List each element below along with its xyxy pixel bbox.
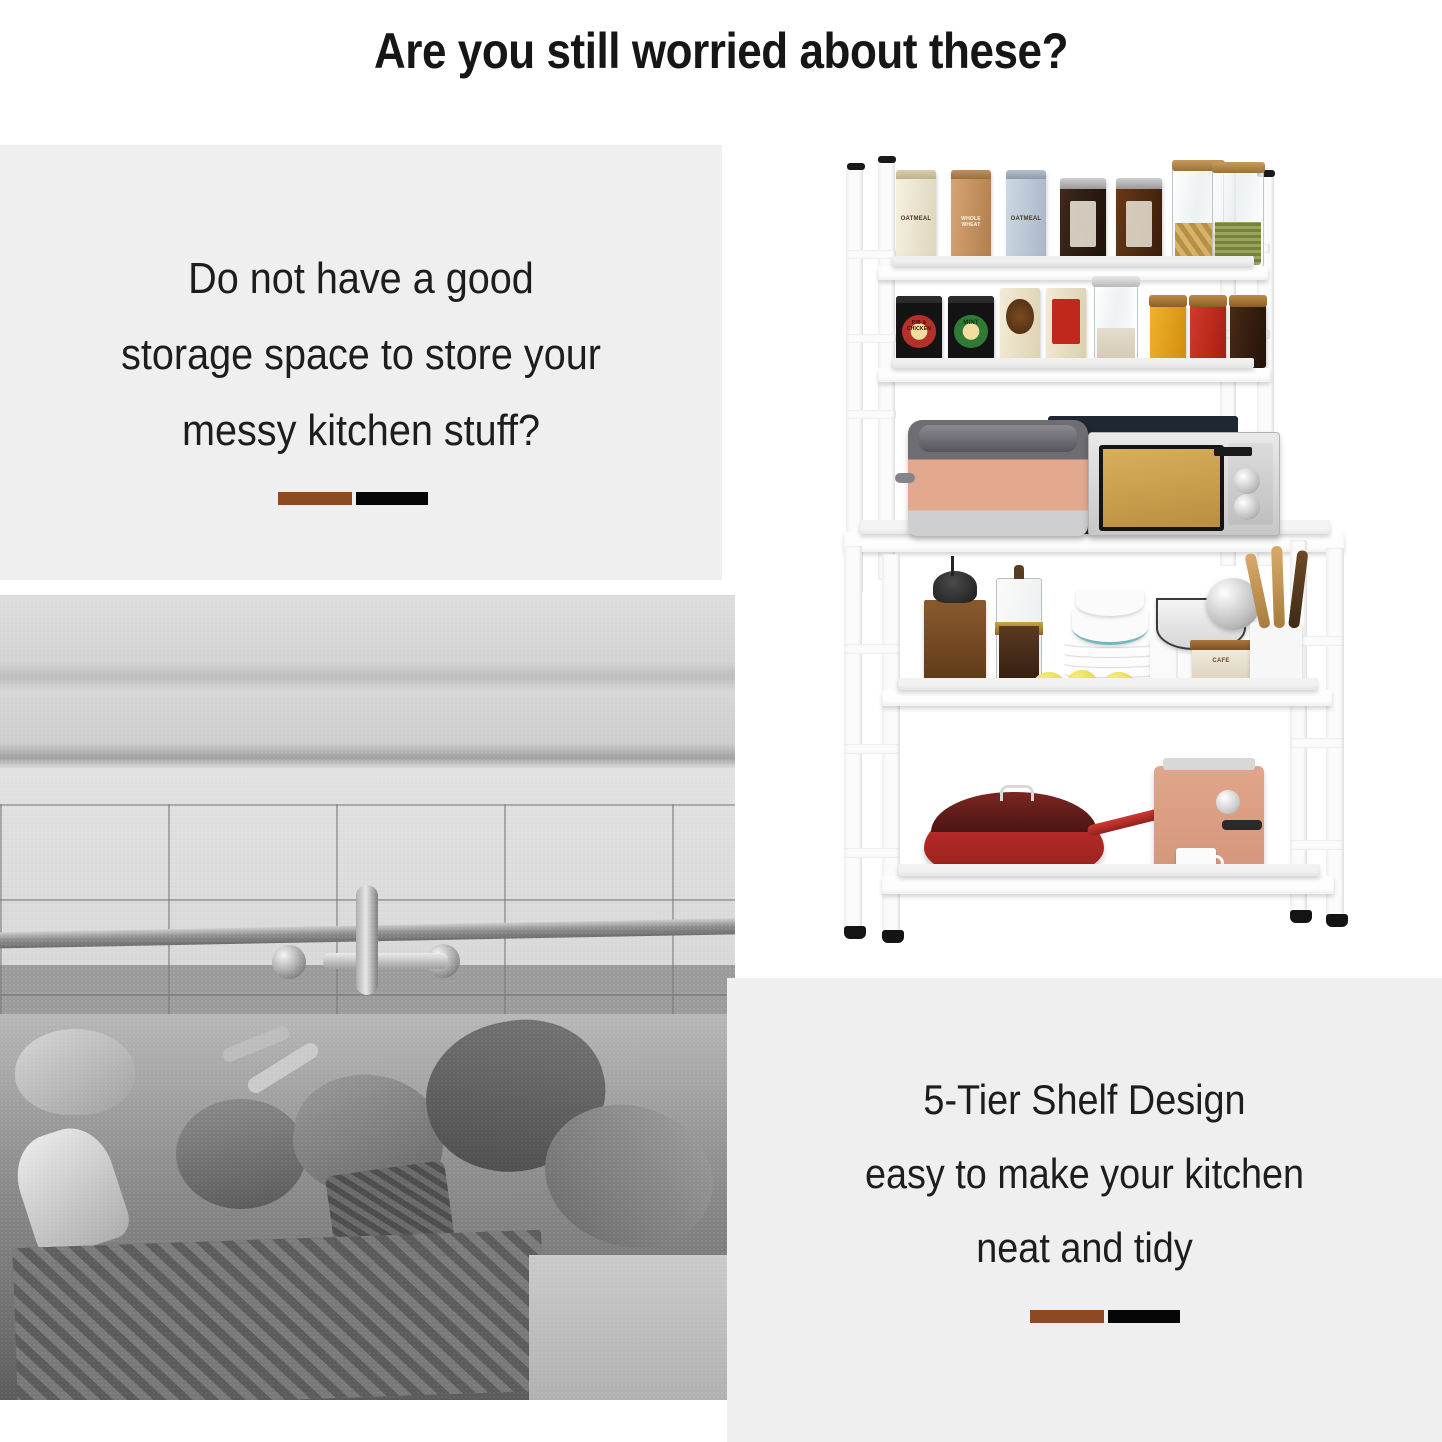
plate	[1064, 650, 1158, 657]
shelf-board-bottom-back	[898, 864, 1320, 876]
hutch-rail-left-mid	[846, 334, 896, 343]
grinder-box-label: CAFE	[1197, 658, 1246, 664]
jar-dark-preserve	[1060, 178, 1106, 266]
canister-oatmeal-blue: OATMEAL	[1006, 170, 1046, 266]
plate	[1064, 660, 1158, 667]
jar-lid	[1116, 178, 1162, 189]
right-copy-text: 5-Tier Shelf Design easy to make your ki…	[763, 1063, 1407, 1285]
bowl-white	[1076, 590, 1144, 616]
box-indian-spice	[1046, 288, 1086, 368]
portafilter-arm	[1222, 820, 1262, 830]
divider-black-segment	[1108, 1310, 1180, 1323]
base-rail-left-upper	[844, 644, 900, 654]
canister-label: WHOLE WHEAT	[954, 216, 988, 228]
foot-right-front	[1326, 914, 1348, 927]
coffee-grinder	[924, 600, 986, 684]
rice-cooker-lid	[919, 425, 1077, 453]
glass-jar-grains	[1212, 168, 1264, 268]
sauce-cap	[948, 296, 994, 303]
shelf-board-middle-back	[898, 678, 1318, 690]
foot-right-back	[1290, 910, 1312, 923]
base-rail-right-mid	[1290, 738, 1344, 748]
divider-brown-segment	[278, 492, 352, 505]
french-press	[996, 578, 1042, 692]
press-plunger-knob	[1014, 565, 1025, 579]
base-rail-right-lower	[1290, 840, 1344, 850]
spice-jar-lid	[1229, 295, 1268, 307]
espresso-gauge	[1216, 790, 1240, 814]
right-divider-rule	[1030, 1310, 1180, 1323]
shelf-board-middle	[882, 690, 1332, 706]
base-rail-left-mid	[844, 744, 900, 754]
left-copy-text: Do not have a good storage space to stor…	[36, 241, 686, 469]
left-copy-line-3: messy kitchen stuff?	[36, 393, 686, 469]
canister-label: OATMEAL	[899, 216, 933, 222]
microwave	[1088, 432, 1280, 536]
canister-label: OATMEAL	[1009, 216, 1043, 222]
left-copy-line-1: Do not have a good	[36, 241, 686, 317]
bakers-rack-product: OATMEAL WHOLE WHEAT OATMEAL RIB & CHICKE…	[820, 148, 1380, 968]
canister-oatmeal-cream: OATMEAL	[896, 170, 936, 266]
shelf-board-bottom	[882, 876, 1334, 894]
sauce-cap	[896, 296, 942, 303]
foot-left-back	[844, 926, 866, 939]
post-cap-left	[847, 163, 865, 170]
rice-cooker	[908, 420, 1088, 536]
hutch-rail-left-lower	[846, 410, 896, 419]
microwave-dial-lower	[1234, 494, 1260, 520]
left-divider-rule	[278, 492, 428, 505]
spice-jar-lid	[1189, 295, 1228, 307]
left-copy-panel: Do not have a good storage space to stor…	[0, 145, 722, 580]
box-cocoa	[1000, 288, 1040, 368]
shelf-board-tier1	[878, 266, 1268, 280]
sauce-label: RIB & CHICKEN	[900, 320, 939, 332]
foot-left-front	[882, 930, 904, 943]
jar-lid	[1060, 178, 1106, 189]
right-copy-panel: 5-Tier Shelf Design easy to make your ki…	[727, 978, 1442, 1442]
microwave-door	[1099, 445, 1225, 531]
left-copy-line-2: storage space to store your	[36, 317, 686, 393]
jar-wooden-lid	[1212, 162, 1265, 173]
shelf-board-tier1-back	[892, 256, 1254, 266]
jar-label	[1126, 201, 1152, 247]
grinder-box-top	[1190, 640, 1253, 650]
spice-box-panel	[1052, 299, 1081, 344]
base-post-right-front	[1326, 548, 1344, 916]
sauce-label: MINT	[952, 320, 991, 326]
right-copy-line-1: 5-Tier Shelf Design	[763, 1063, 1407, 1137]
base-post-left-back	[844, 546, 862, 928]
cocoa-medallion	[1006, 299, 1033, 334]
spice-jar-lid	[1149, 295, 1188, 307]
shelf-board-tier2-back	[892, 358, 1254, 368]
canister-lid	[951, 170, 991, 179]
jar-amber-preserve	[1116, 178, 1162, 266]
canister-lid	[896, 170, 936, 179]
post-cap-left-front	[878, 156, 896, 163]
hutch-rail-left-upper	[846, 250, 896, 259]
grinder-crank	[951, 556, 954, 576]
photo-grain	[0, 595, 735, 1400]
right-copy-line-3: neat and tidy	[763, 1211, 1407, 1285]
microwave-dial-upper	[1234, 468, 1260, 494]
microwave-display	[1214, 447, 1252, 456]
espresso-top-plate	[1163, 758, 1255, 770]
messy-kitchen-photo	[0, 595, 735, 1400]
divider-brown-segment	[1030, 1310, 1104, 1323]
right-copy-line-2: easy to make your kitchen	[763, 1137, 1407, 1211]
divider-black-segment	[356, 492, 428, 505]
jar-label	[1070, 201, 1096, 247]
shelf-board-tier2	[878, 368, 1270, 382]
pan-lid-knob	[1000, 785, 1035, 800]
wooden-spatula	[1271, 546, 1285, 628]
grinder-dome	[933, 571, 978, 603]
canister-lid	[1006, 170, 1046, 179]
page-title: Are you still worried about these?	[87, 22, 1356, 80]
canister-whole-wheat: WHOLE WHEAT	[951, 170, 991, 266]
base-rail-left-lower	[844, 848, 900, 858]
rice-cooker-handle	[895, 473, 915, 483]
clamp-lid	[1092, 276, 1139, 287]
